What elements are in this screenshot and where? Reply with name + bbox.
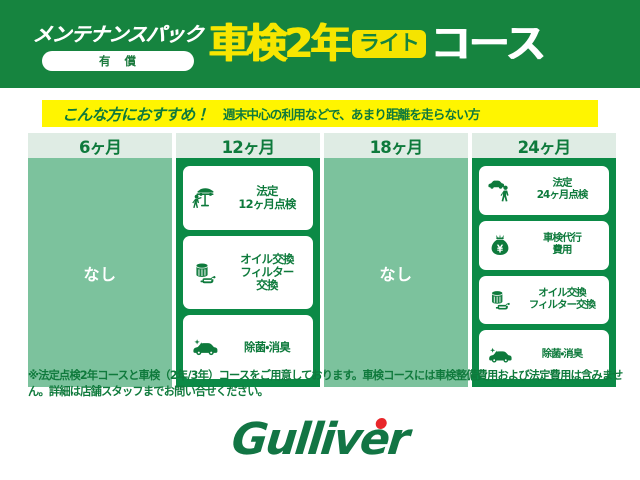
service-label-sanitize-12m: 除菌・消臭 (225, 341, 309, 354)
service-card-inspection-agency-fee: 車検代行 費用 (479, 221, 609, 270)
car-sanitize-icon (486, 341, 514, 369)
schedule-table: 6ヶ月 なし 12ヶ月 (28, 133, 616, 387)
headline-tail: コース (431, 24, 545, 64)
oil-filter-change-icon (486, 286, 514, 314)
recommendation-headline: こんな方におすすめ！ (62, 103, 209, 125)
car-sanitize-icon (190, 332, 220, 362)
schedule-column-24m: 24ヶ月 法定 24 (472, 133, 616, 387)
money-bag-yen-icon (486, 231, 514, 259)
no-service-label-18m: なし (379, 261, 412, 285)
disclaimer-text: ※法定点検2年コースと車検（2年/3年）コースをご用意しております。車検コースに… (28, 368, 624, 400)
column-header-18m: 18ヶ月 (324, 133, 468, 158)
service-label-oil-filter-12m: オイル交換 フィルター 交換 (225, 253, 309, 292)
headline-group: 車検2年 ライト コース (209, 24, 640, 64)
service-label-legal-12m-inspection: 法定 12ヶ月点検 (225, 185, 309, 211)
service-card-oil-filter-24m: オイル交換 フィルター交換 (479, 276, 609, 325)
light-course-badge: ライト (352, 30, 426, 58)
column-body-24m: 法定 24ヶ月点検 車検代行 費用 (472, 158, 616, 387)
car-lift-inspection-icon (190, 183, 220, 213)
maintenance-pack-block: メンテナンスパック 有 償 (0, 18, 215, 71)
maintenance-pack-poster: メンテナンスパック 有 償 車検2年 ライト コース こんな方におすすめ！ 週末… (0, 0, 640, 480)
brand-logo-area: Gulliver (0, 412, 640, 468)
oil-filter-change-icon (190, 258, 220, 288)
column-header-24m: 24ヶ月 (472, 133, 616, 158)
column-body-12m: 法定 12ヶ月点検 (176, 158, 320, 387)
car-inspection-person-icon (486, 176, 514, 204)
column-header-12m: 12ヶ月 (176, 133, 320, 158)
service-card-legal-24m-inspection: 法定 24ヶ月点検 (479, 166, 609, 215)
column-body-6m: なし (28, 158, 172, 387)
schedule-column-18m: 18ヶ月 なし (324, 133, 468, 387)
service-label-oil-filter-24m: オイル交換 フィルター交換 (519, 288, 605, 312)
recommendation-detail: 週末中心の利用などで、あまり距離を走らない方 (223, 104, 480, 123)
column-header-6m: 6ヶ月 (28, 133, 172, 158)
column-body-18m: なし (324, 158, 468, 387)
schedule-column-12m: 12ヶ月 (176, 133, 320, 387)
service-card-oil-filter-12m: オイル交換 フィルター 交換 (183, 236, 313, 309)
schedule-column-6m: 6ヶ月 なし (28, 133, 172, 387)
gulliver-logo: Gulliver (230, 418, 410, 462)
pack-title: メンテナンスパック (32, 18, 204, 47)
service-label-inspection-agency-fee: 車検代行 費用 (519, 233, 605, 257)
service-label-sanitize-24m: 除菌・消臭 (519, 349, 605, 361)
no-service-label-6m: なし (83, 261, 116, 285)
recommendation-banner: こんな方におすすめ！ 週末中心の利用などで、あまり距離を走らない方 (42, 100, 598, 127)
service-card-legal-12m-inspection: 法定 12ヶ月点検 (183, 166, 313, 230)
paid-badge: 有 償 (42, 51, 194, 71)
headline-main: 車検2年 (209, 24, 349, 64)
service-label-legal-24m-inspection: 法定 24ヶ月点検 (519, 178, 605, 202)
header-band: メンテナンスパック 有 償 車検2年 ライト コース (0, 0, 640, 88)
